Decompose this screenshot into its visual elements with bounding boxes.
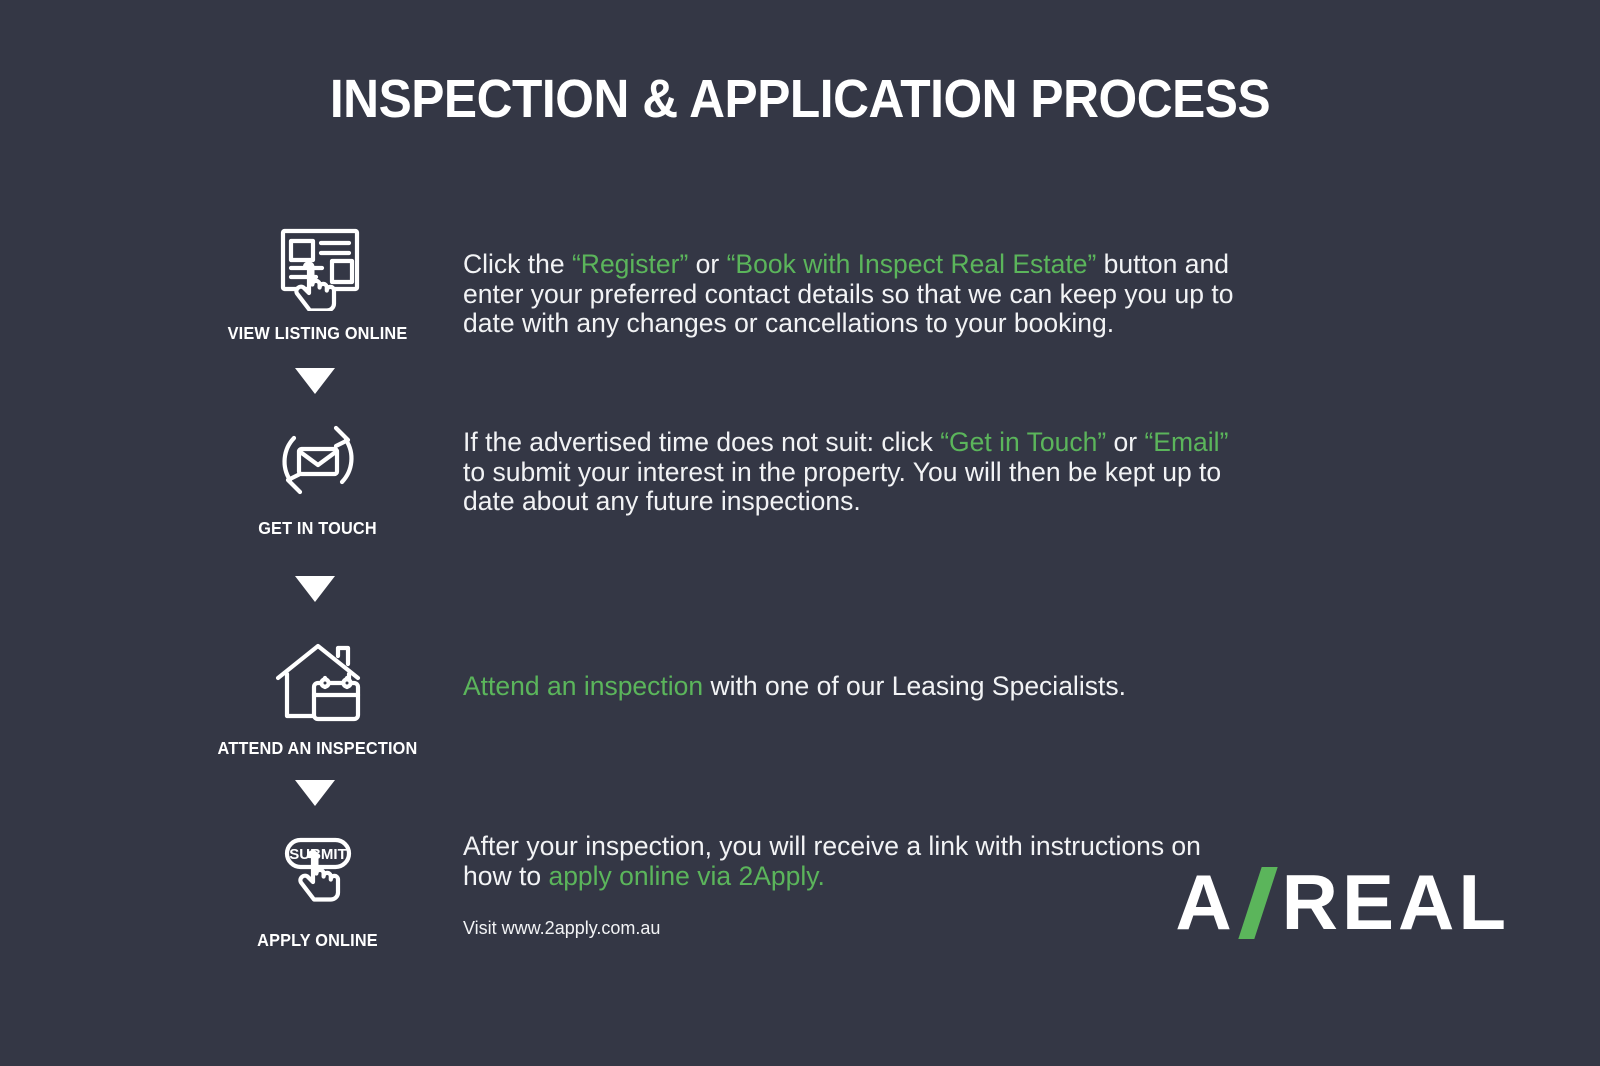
step-2-seg-0: If the advertised time does not suit: cl… — [463, 427, 940, 457]
step-1-seg-3: “Book with Inspect Real Estate” — [727, 249, 1097, 279]
step-1-body: Click the “Register” or “Book with Inspe… — [463, 250, 1253, 339]
visit-url-note: Visit www.2apply.com.au — [463, 918, 660, 939]
logo-letter-a: A — [1175, 857, 1235, 948]
step-4-caption: APPLY ONLINE — [204, 930, 432, 951]
step-2-seg-4: to submit your interest in the property.… — [463, 457, 1221, 517]
house-calendar-icon — [195, 630, 440, 730]
logo-slash-icon — [1238, 867, 1277, 939]
step-2-body: If the advertised time does not suit: cl… — [463, 428, 1253, 517]
step-2-icon-column: GET IN TOUCH — [195, 410, 440, 539]
step-3-icon-column: ATTEND AN INSPECTION — [195, 630, 440, 759]
arrow-step3-to-step4 — [295, 780, 335, 806]
envelope-refresh-icon — [195, 410, 440, 510]
step-1-seg-2: or — [688, 249, 726, 279]
step-3-seg-0: Attend an inspection — [463, 671, 703, 701]
infographic-page: INSPECTION & APPLICATION PROCESS VIEW LI… — [0, 0, 1600, 1066]
step-4-body: After your inspection, you will receive … — [463, 832, 1253, 891]
step-2-seg-2: or — [1106, 427, 1144, 457]
step-4-icon-column: SUBMIT APPLY ONLINE — [195, 822, 440, 951]
step-3-body: Attend an inspection with one of our Lea… — [463, 672, 1253, 702]
step-3-seg-1: with one of our Leasing Specialists. — [703, 671, 1126, 701]
step-2-seg-3: “Email” — [1144, 427, 1228, 457]
step-1-caption: VIEW LISTING ONLINE — [204, 323, 432, 344]
areal-logo: A REAL — [1175, 857, 1510, 948]
submit-button-cursor-icon: SUBMIT — [195, 822, 440, 922]
logo-word-real: REAL — [1282, 857, 1510, 948]
listing-page-with-cursor-icon — [195, 215, 440, 315]
arrow-step1-to-step2 — [295, 368, 335, 394]
step-3-caption: ATTEND AN INSPECTION — [204, 738, 432, 759]
step-2-caption: GET IN TOUCH — [204, 518, 432, 539]
step-2-seg-1: “Get in Touch” — [940, 427, 1106, 457]
arrow-step2-to-step3 — [295, 576, 335, 602]
page-title: INSPECTION & APPLICATION PROCESS — [64, 68, 1536, 130]
step-1-icon-column: VIEW LISTING ONLINE — [195, 215, 440, 344]
step-1-seg-0: Click the — [463, 249, 572, 279]
step-1-seg-1: “Register” — [572, 249, 688, 279]
step-4-seg-1: apply online via 2Apply. — [548, 861, 824, 891]
